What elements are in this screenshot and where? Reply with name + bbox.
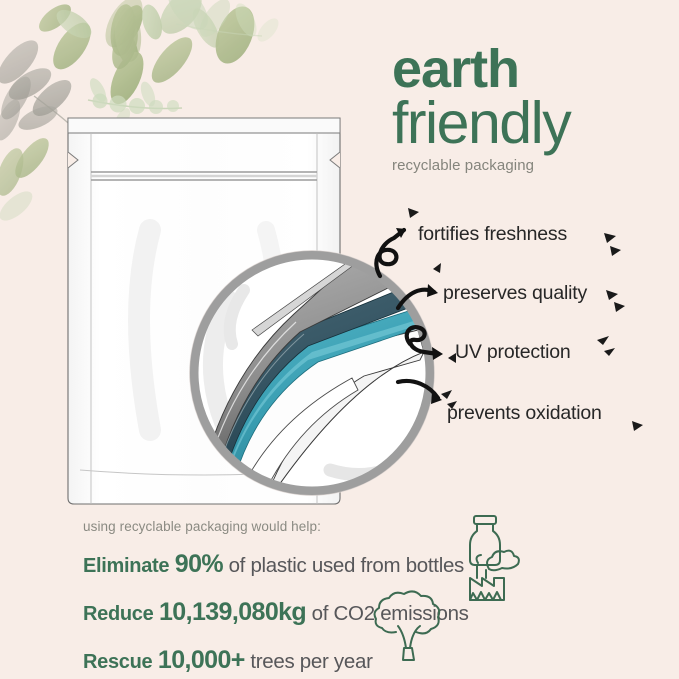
poster-canvas: earth friendly recyclable packaging fort… bbox=[0, 0, 679, 679]
bottle-icon bbox=[470, 516, 500, 565]
stat-icons-group bbox=[0, 0, 679, 679]
factory-smoke-icon bbox=[470, 551, 519, 600]
tree-icon bbox=[375, 591, 440, 660]
